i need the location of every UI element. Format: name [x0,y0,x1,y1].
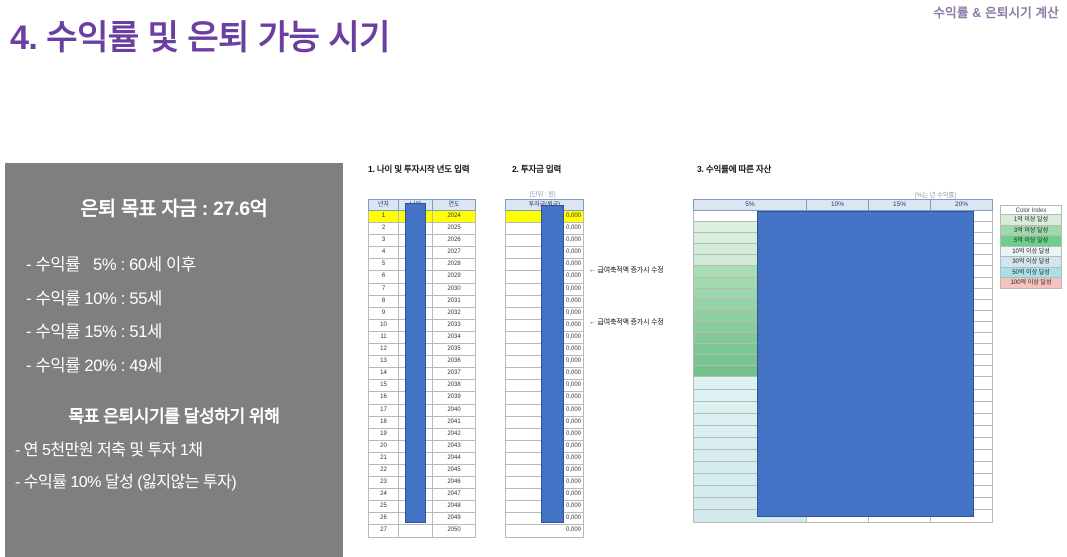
cell-c-year[interactable]: 2029 [433,271,476,283]
cell-c-year[interactable]: 2039 [433,392,476,404]
section-3-title: 3. 수익률에 따른 자산 [697,163,771,175]
cell-c-yr[interactable]: 8 [369,295,399,307]
cell-c-yr[interactable]: 15 [369,380,399,392]
annotation-salary-increase: ← 급여축적액 증가시 수정 [589,317,663,327]
cell-c-year[interactable]: 2043 [433,440,476,452]
cell-c-yr[interactable]: 2 [369,223,399,235]
cell-c-yr[interactable]: 9 [369,307,399,319]
color-index-row: 5억 이상 달성 [1000,236,1062,247]
cell-c-year[interactable]: 2044 [433,452,476,464]
cell-c-year[interactable]: 2027 [433,247,476,259]
cell-c-yr[interactable]: 4 [369,247,399,259]
cell-c-yr[interactable]: 5 [369,259,399,271]
summary-line: - 수익률 15% : 51세 [26,318,343,342]
cell-c-year[interactable]: 2030 [433,283,476,295]
table-header-row: 5% 10% 15% 20% [694,200,993,211]
cell-c-yr[interactable]: 18 [369,416,399,428]
cell-c-yr[interactable]: 11 [369,331,399,343]
cell-c-yr[interactable]: 21 [369,452,399,464]
color-index-row: 10억 이상 달성 [1000,247,1062,258]
chart-bar-investment [541,205,564,523]
cell-c-yr[interactable]: 6 [369,271,399,283]
chart-bar-asset [757,211,974,517]
unit-note: [단위 : 원] [530,188,555,198]
chart-bar-age [405,203,426,523]
cell-c-yr[interactable]: 16 [369,392,399,404]
cell-c-year[interactable]: 2031 [433,295,476,307]
cell-c-year[interactable]: 2049 [433,513,476,525]
color-index-row: 30억 이상 달성 [1000,257,1062,268]
summary-heading: 은퇴 목표 자금 : 27.6억 [5,192,343,221]
column-header-rate-10: 10% [807,200,869,211]
cell-c-year[interactable]: 2038 [433,380,476,392]
column-header-year: 연도 [433,200,476,211]
cell-c-yr[interactable]: 10 [369,319,399,331]
cell-c-yr[interactable]: 19 [369,428,399,440]
cell-c-yr[interactable]: 17 [369,404,399,416]
table-row[interactable]: 0,000 [506,525,584,537]
cell-c-age[interactable] [399,525,433,537]
cell-c-yr[interactable]: 13 [369,356,399,368]
summary-action-line: - 수익률 10% 달성 (잃지않는 투자) [15,468,343,492]
cell-c-year[interactable]: 2046 [433,477,476,489]
column-header-rate-15: 15% [869,200,931,211]
cell-c-yr[interactable]: 22 [369,464,399,476]
summary-line: - 수익률 10% : 55세 [26,285,343,309]
cell-investment[interactable]: 0,000 [506,525,584,537]
annotation-salary-increase: ← 급여축적액 증가시 수정 [589,265,663,275]
summary-line: - 수익률 20% : 49세 [26,352,343,376]
cell-c-year[interactable]: 2050 [433,525,476,537]
cell-c-yr[interactable]: 20 [369,440,399,452]
cell-c-year[interactable]: 2041 [433,416,476,428]
cell-c-yr[interactable]: 23 [369,477,399,489]
cell-c-year[interactable]: 2026 [433,235,476,247]
cell-c-yr[interactable]: 1 [369,211,399,223]
cell-c-year[interactable]: 2037 [433,368,476,380]
color-index-row: 1억 이상 달성 [1000,215,1062,226]
column-header-year-no: 년차 [369,200,399,211]
cell-c-year[interactable]: 2035 [433,344,476,356]
cell-c-yr[interactable]: 24 [369,489,399,501]
summary-action-list: - 연 5천만원 저축 및 투자 1채 - 수익률 10% 달성 (잃지않는 투… [5,436,343,492]
cell-c-year[interactable]: 2047 [433,489,476,501]
cell-c-year[interactable]: 2028 [433,259,476,271]
cell-c-year[interactable]: 2033 [433,319,476,331]
cell-c-year[interactable]: 2025 [433,223,476,235]
cell-c-year[interactable]: 2040 [433,404,476,416]
summary-subheading: 목표 은퇴시기를 달성하기 위해 [5,402,343,427]
color-index-row: 3억 이상 달성 [1000,226,1062,237]
cell-c-yr[interactable]: 14 [369,368,399,380]
table-row[interactable]: 272050 [369,525,476,537]
cell-c-year[interactable]: 2032 [433,307,476,319]
cell-c-year[interactable]: 2036 [433,356,476,368]
cell-c-yr[interactable]: 7 [369,283,399,295]
cell-c-yr[interactable]: 27 [369,525,399,537]
column-header-rate-20: 20% [931,200,993,211]
cell-c-yr[interactable]: 26 [369,513,399,525]
column-header-rate-5: 5% [694,200,807,211]
summary-action-line: - 연 5천만원 저축 및 투자 1채 [15,436,343,460]
section-2-title: 2. 투자금 입력 [512,163,561,175]
slide-header-note: 수익률 & 은퇴시기 계산 [933,2,1059,21]
color-index-title: Color Index [1000,205,1062,215]
summary-line: - 수익률 5% : 60세 이후 [26,251,343,275]
cell-c-yr[interactable]: 25 [369,501,399,513]
cell-c-year[interactable]: 2045 [433,464,476,476]
cell-c-year[interactable]: 2024 [433,211,476,223]
cell-c-yr[interactable]: 3 [369,235,399,247]
color-index-legend: Color Index 1억 이상 달성3억 이상 달성5억 이상 달성10억 … [1000,205,1062,289]
section-1-title: 1. 나이 및 투자시작 년도 입력 [368,163,469,175]
cell-c-year[interactable]: 2042 [433,428,476,440]
summary-panel: 은퇴 목표 자금 : 27.6억 - 수익률 5% : 60세 이후 - 수익률… [5,163,343,557]
cell-c-yr[interactable]: 12 [369,344,399,356]
page-title: 4. 수익률 및 은퇴 가능 시기 [10,10,390,59]
color-index-row: 100억 이상 달성 [1000,278,1062,289]
rate-note: [%는 년 수익률] [915,189,956,199]
cell-c-year[interactable]: 2034 [433,331,476,343]
cell-c-year[interactable]: 2048 [433,501,476,513]
summary-rate-list: - 수익률 5% : 60세 이후 - 수익률 10% : 55세 - 수익률 … [5,251,343,376]
color-index-row: 50억 이상 달성 [1000,268,1062,279]
